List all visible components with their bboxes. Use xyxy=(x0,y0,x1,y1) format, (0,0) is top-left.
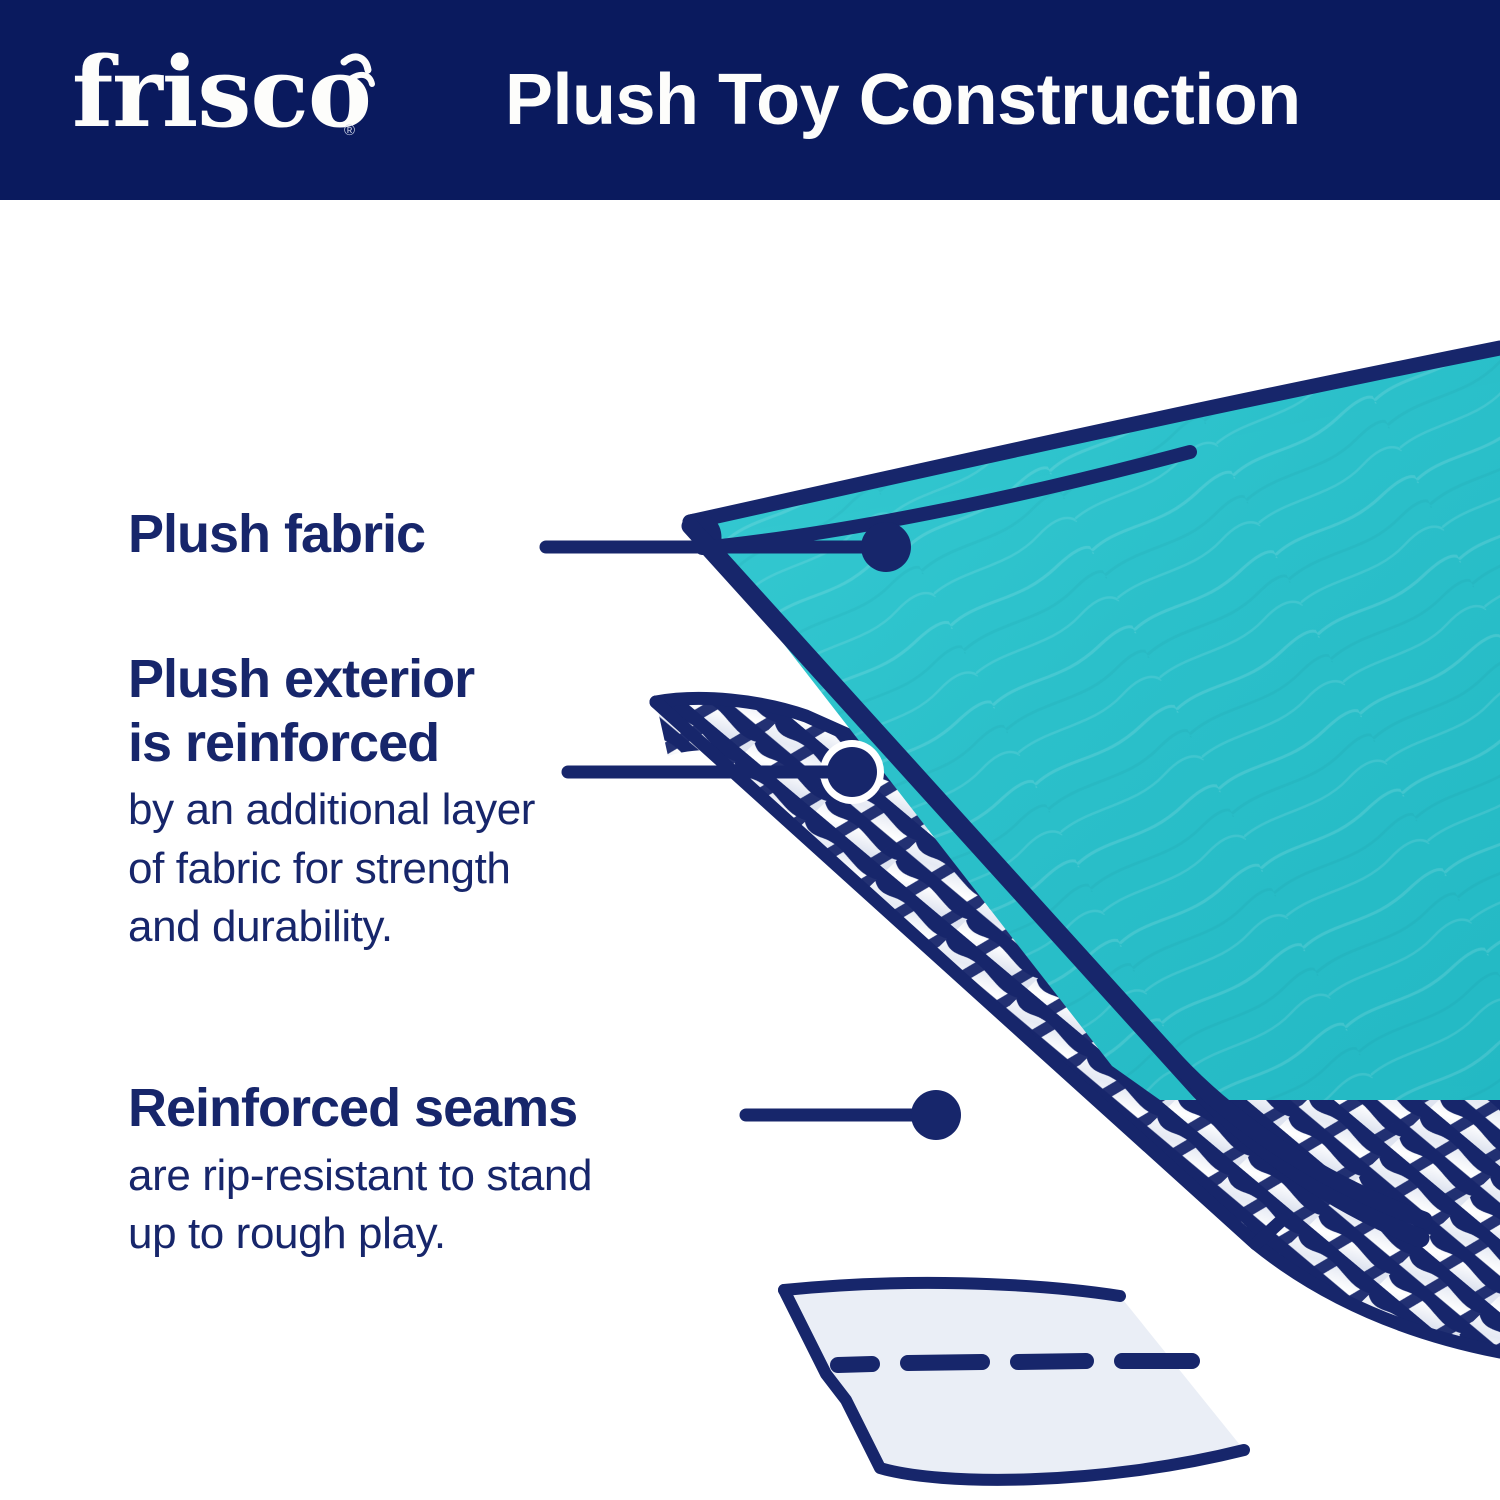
callout-reinforced-seams-body: are rip-resistant to stand up to rough p… xyxy=(128,1147,788,1264)
callout-plush-exterior-headline: Plush exterior is reinforced xyxy=(128,648,728,775)
callout-plush-exterior-body: by an additional layer of fabric for str… xyxy=(128,781,728,957)
seam-flap-layer xyxy=(784,1283,1244,1480)
frisco-logo: frisco ® xyxy=(72,44,392,154)
callout-reinforced-seams: Reinforced seams are rip-resistant to st… xyxy=(128,1077,788,1264)
registered-mark: ® xyxy=(344,122,355,139)
callout-plush-fabric: Plush fabric xyxy=(128,503,558,567)
infographic-page: frisco ® Plush Toy Construction xyxy=(0,0,1500,1500)
callout-plush-fabric-headline: Plush fabric xyxy=(128,503,558,567)
callout-plush-exterior: Plush exterior is reinforced by an addit… xyxy=(128,648,728,957)
page-title: Plush Toy Construction xyxy=(505,50,1405,150)
header-bar: frisco ® Plush Toy Construction xyxy=(0,0,1500,200)
callout-reinforced-seams-headline: Reinforced seams xyxy=(128,1077,788,1141)
